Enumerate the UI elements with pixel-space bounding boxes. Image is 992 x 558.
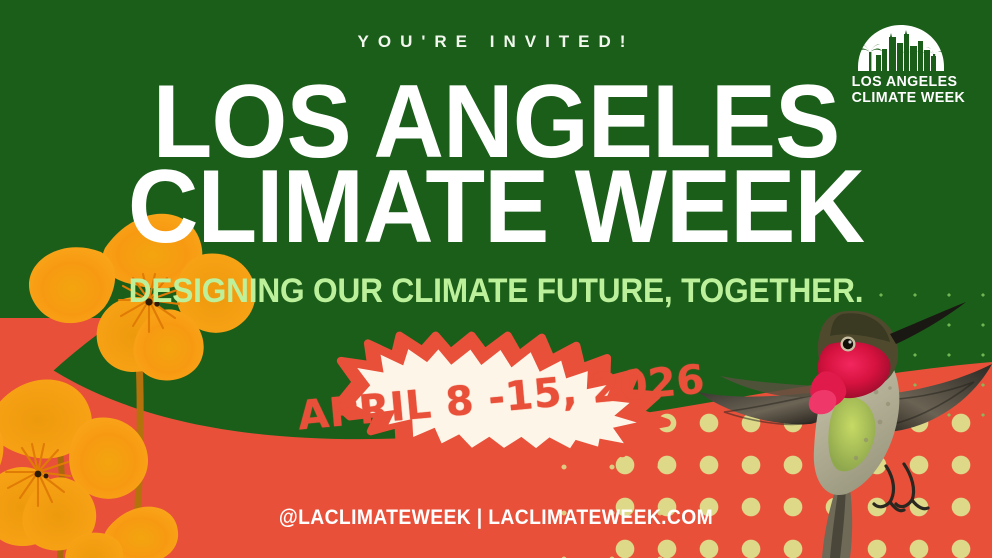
event-poster: YOU'RE INVITED! LOS ANGELES CLIMATE WEEK… — [0, 0, 992, 558]
logo-line-1: LOS ANGELES — [852, 74, 951, 90]
skyline-dome-icon — [849, 24, 953, 72]
laclimateweek-logo[interactable]: LOS ANGELES CLIMATE WEEK — [849, 24, 953, 106]
date-badge: APRIL 8 -15, 2026 — [324, 320, 679, 469]
social-handles[interactable]: @LACLIMATEWEEK | LACLIMATEWEEK.COM — [40, 506, 953, 530]
logo-line-2: CLIMATE WEEK — [852, 90, 951, 106]
kicker-text: YOU'RE INVITED! — [0, 32, 992, 52]
page-title: LOS ANGELES CLIMATE WEEK — [0, 78, 992, 253]
title-line-2: CLIMATE WEEK — [30, 163, 962, 252]
subtitle-tagline: DESIGNING OUR CLIMATE FUTURE, TOGETHER. — [35, 272, 958, 311]
